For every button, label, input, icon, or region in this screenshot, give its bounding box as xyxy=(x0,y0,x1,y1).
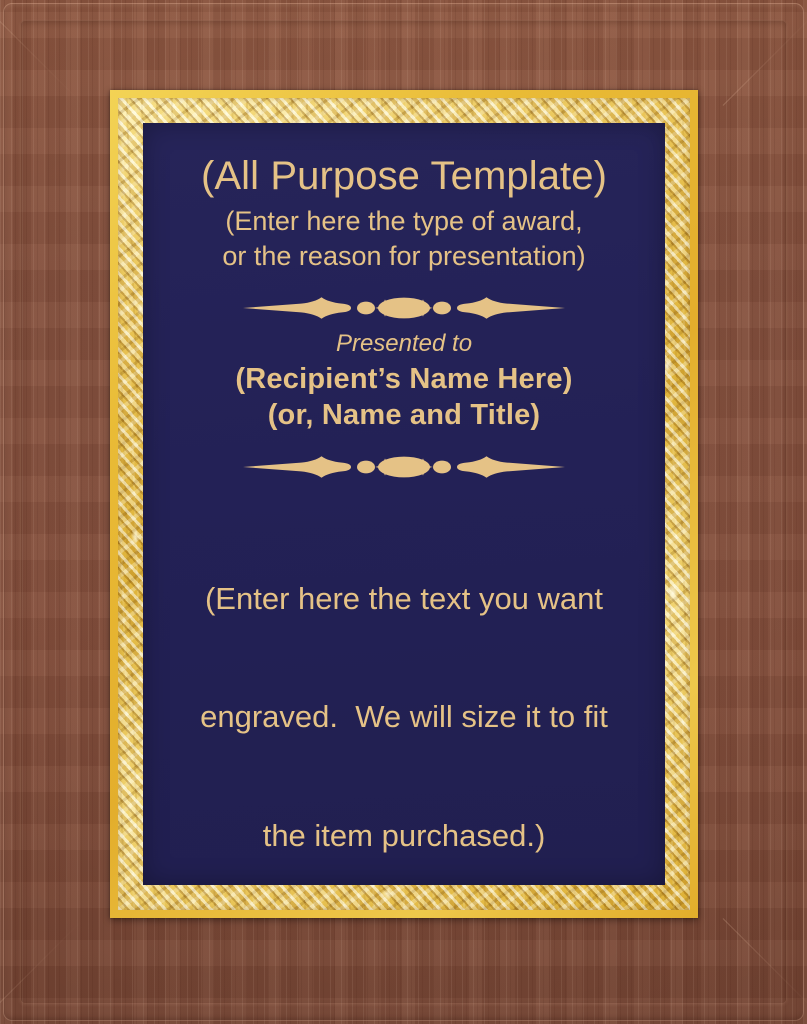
plaque-title: (All Purpose Template) xyxy=(169,155,639,197)
wood-plaque-frame: (All Purpose Template) (Enter here the t… xyxy=(0,0,807,1024)
recipient-name-line-2: (or, Name and Title) xyxy=(169,398,639,434)
frame-miter-top-left xyxy=(0,0,84,106)
gold-foil-border: (All Purpose Template) (Enter here the t… xyxy=(118,98,690,910)
ornament-divider-icon-2 xyxy=(241,454,567,480)
ornament-divider-icon xyxy=(241,295,567,321)
gold-plate: (All Purpose Template) (Enter here the t… xyxy=(110,90,698,918)
body-line-2: engraved. We will size it to fit xyxy=(169,697,639,736)
frame-miter-bottom-right xyxy=(723,918,807,1024)
body-line-1: (Enter here the text you want xyxy=(169,579,639,618)
recipient-block: Presented to (Recipient’s Name Here) (or… xyxy=(169,330,639,434)
body-line-3: the item purchased.) xyxy=(169,816,639,855)
frame-miter-top-right xyxy=(723,0,807,106)
subtitle-line-2: or the reason for presentation) xyxy=(169,239,639,273)
plaque-subtitle: (Enter here the type of award, or the re… xyxy=(169,204,639,273)
subtitle-line-1: (Enter here the type of award, xyxy=(169,204,639,238)
recipient-name-line-1: (Recipient’s Name Here) xyxy=(169,362,639,398)
frame-miter-bottom-left xyxy=(0,918,84,1024)
engraving-panel: (All Purpose Template) (Enter here the t… xyxy=(143,123,665,885)
engraving-body-text: (Enter here the text you want engraved. … xyxy=(169,501,639,885)
presented-to-label: Presented to xyxy=(169,330,639,359)
